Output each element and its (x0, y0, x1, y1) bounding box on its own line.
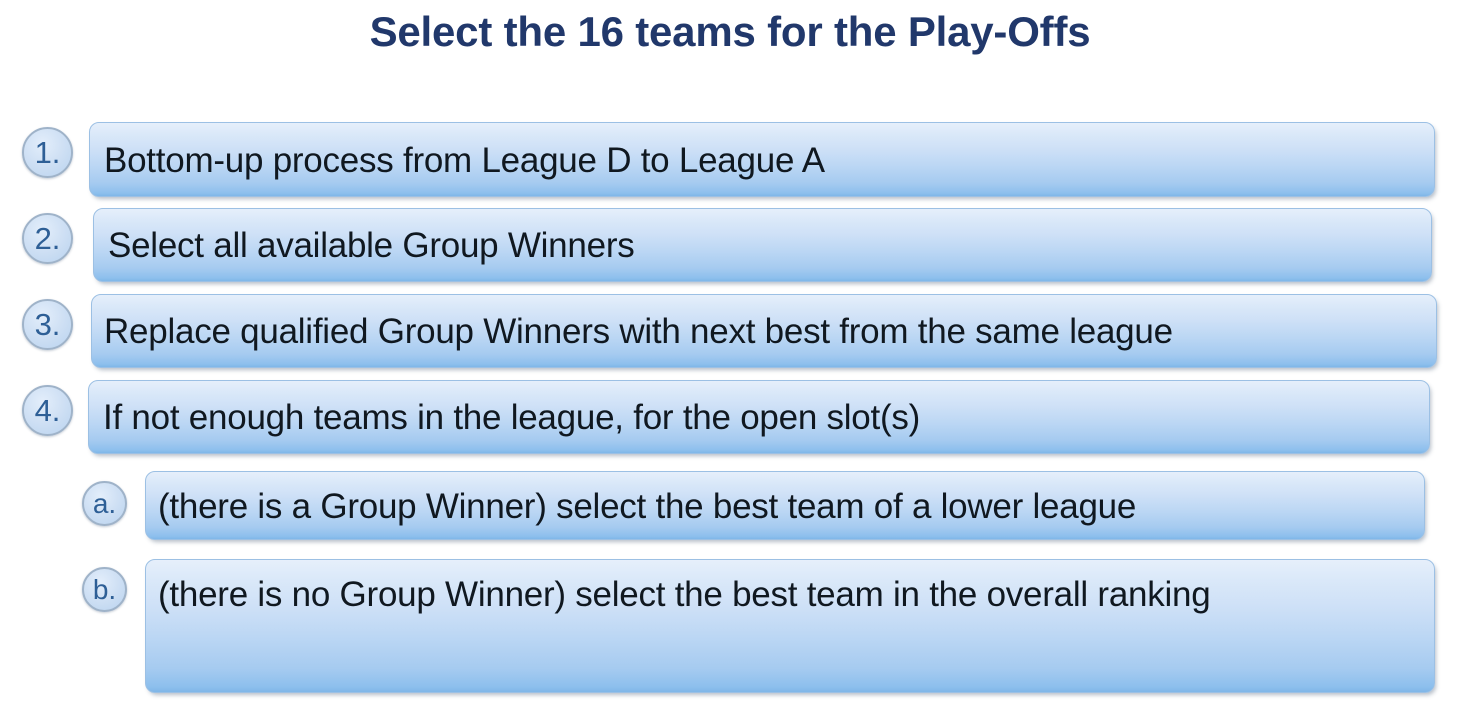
list-box-3[interactable]: Replace qualified Group Winners with nex… (91, 294, 1437, 368)
list-box-4[interactable]: If not enough teams in the league, for t… (88, 380, 1430, 454)
list-text-a: (there is a Group Winner) select the bes… (158, 472, 1414, 540)
list-text-b: (there is no Group Winner) select the be… (158, 562, 1304, 628)
list-marker-4: 4. (22, 385, 73, 436)
list-marker-1: 1. (22, 127, 73, 178)
list-marker-3: 3. (22, 299, 73, 350)
slide-canvas: Select the 16 teams for the Play-Offs 1.… (0, 0, 1460, 724)
list-box-a[interactable]: (there is a Group Winner) select the bes… (145, 471, 1425, 540)
list-text-1: Bottom-up process from League D to Leagu… (104, 123, 1424, 197)
list-text-2: Select all available Group Winners (108, 209, 1421, 282)
list-box-1[interactable]: Bottom-up process from League D to Leagu… (89, 122, 1435, 197)
list-marker-a: a. (82, 481, 127, 526)
list-text-3: Replace qualified Group Winners with nex… (104, 295, 1426, 368)
list-box-b[interactable]: (there is no Group Winner) select the be… (145, 559, 1435, 693)
list-marker-b: b. (82, 567, 127, 612)
list-marker-2: 2. (22, 213, 73, 264)
page-title: Select the 16 teams for the Play-Offs (0, 8, 1460, 56)
list-text-4: If not enough teams in the league, for t… (103, 381, 1419, 454)
list-box-2[interactable]: Select all available Group Winners (93, 208, 1432, 282)
